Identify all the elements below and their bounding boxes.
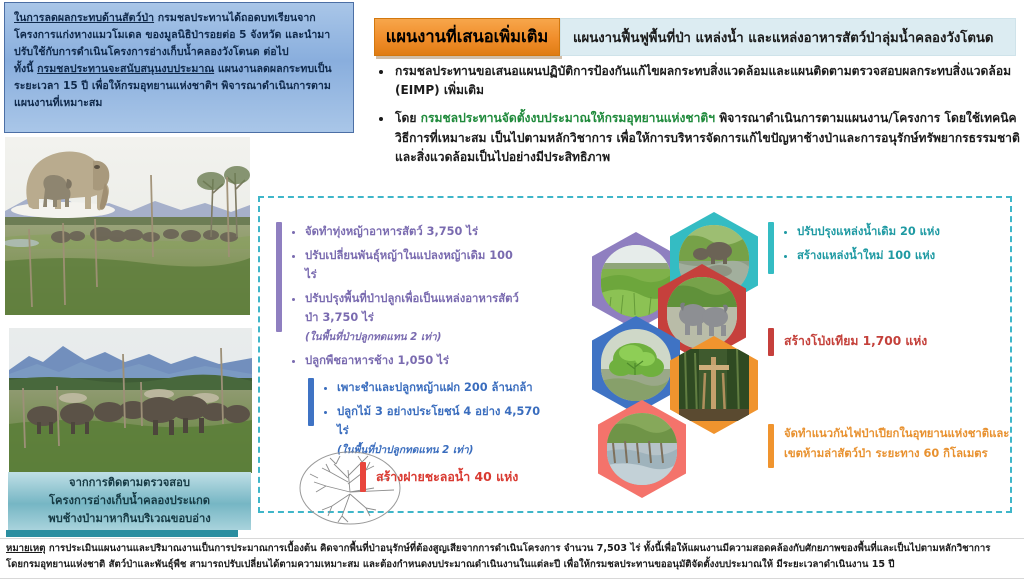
slide-canvas: ในการลดผลกระทบด้านสัตว์ป่า กรมชลประทานได…: [0, 0, 1024, 579]
grass-item-3: ปรับปรุงพื้นที่ป่าปลูกเพื่อเป็นแหล่งอาหา…: [305, 292, 519, 325]
planting-item-1: เพาะชำและปลูกหญ้าแฝก 200 ล้านกล้า: [337, 381, 533, 394]
photo-elephant-herd-mountains: [8, 327, 253, 474]
callout-grass-plan: จัดทำทุ่งหญ้าอาหารสัตว์ 3,750 ไร่ ปรับเป…: [276, 222, 526, 375]
list-item: ปลูกพืชอาหารช้าง 1,050 ไร่: [305, 351, 526, 371]
water-item-2: สร้างแหล่งน้ำใหม่ 100 แห่ง: [797, 249, 935, 262]
callout-saltlick-text: สร้างโป่งเทียม 1,700 แห่ง: [784, 332, 927, 352]
list-item: สร้างแหล่งน้ำใหม่ 100 แห่ง: [797, 246, 940, 266]
grass-item-4: ปลูกพืชอาหารช้าง 1,050 ไร่: [305, 354, 449, 367]
top-bullet-text-1: กรมชลประทานขอเสนอแผนปฏิบัติการป้องกันแก้…: [395, 64, 1011, 97]
photo-caption: จากการติดตามตรวจสอบ โครงการอ่างเก็บน้ำคล…: [8, 472, 251, 530]
note-underline-1: ในการลดผลกระทบด้านสัตว์ป่า: [14, 12, 154, 24]
callout-accent-bar-orange: [768, 424, 774, 468]
callout-accent-bar-red-weir: [360, 462, 366, 492]
top-bullet-list: กรมชลประทานขอเสนอแผนปฏิบัติการป้องกันแก้…: [374, 62, 1022, 176]
water-item-1: ปรับปรุงแหล่งน้ำเดิม 20 แห่ง: [797, 225, 940, 238]
footer-line-1: การประเมินแผนงานและปริมาณงานเป็นการประมา…: [46, 543, 991, 554]
callout-accent-bar-red: [768, 328, 774, 356]
grass-item-3-note: (ในพื้นที่ป่าปลูกทดแทน 2 เท่า): [305, 328, 526, 348]
footer-accent-strip: [6, 530, 238, 537]
footer-label: หมายเหตุ: [6, 543, 46, 554]
list-item: เพาะชำและปลูกหญ้าแฝก 200 ล้านกล้า: [337, 378, 553, 398]
note-text-2-pre: ทั้งนี้: [14, 63, 37, 75]
list-item: ปรับปรุงแหล่งน้ำเดิม 20 แห่ง: [797, 222, 940, 242]
callout-saltlick-plan: สร้างโป่งเทียม 1,700 แห่ง: [768, 328, 1018, 356]
grass-item-1: จัดทำทุ่งหญ้าอาหารสัตว์ 3,750 ไร่: [305, 225, 478, 238]
callout-accent-bar-purple: [276, 222, 282, 332]
callout-grass-text: จัดทำทุ่งหญ้าอาหารสัตว์ 3,750 ไร่ ปรับเป…: [292, 222, 526, 375]
list-item: ปรับเปลี่ยนพันธุ์หญ้าในแปลงหญ้าเดิม 100 …: [305, 246, 526, 285]
callout-firebreak-text: จัดทำแนวกันไฟป่าเปียกในอุทยานแห่งชาติและ…: [784, 424, 1009, 463]
impact-note-box: ในการลดผลกระทบด้านสัตว์ป่า กรมชลประทานได…: [4, 2, 354, 133]
note-underline-2: กรมชลประทานจะสนับสนุนงบประมาณ: [37, 63, 214, 75]
header-title-bar: แผนงานฟื้นฟูพื้นที่ป่า แหล่งน้ำ และแหล่ง…: [560, 18, 1016, 56]
callout-weir-plan: สร้างฝายชะลอน้ำ 40 แห่ง: [360, 462, 580, 492]
list-item: จัดทำทุ่งหญ้าอาหารสัตว์ 3,750 ไร่: [305, 222, 526, 242]
footer-line-2: โดยกรมอุทยานแห่งชาติ สัตว์ป่าและพันธุ์พื…: [6, 559, 895, 570]
top-bullet-item-1: กรมชลประทานขอเสนอแผนปฏิบัติการป้องกันแก้…: [393, 62, 1022, 100]
callout-water-sources-plan: ปรับปรุงแหล่งน้ำเดิม 20 แห่ง สร้างแหล่งน…: [768, 222, 1018, 274]
callout-firebreak-plan: จัดทำแนวกันไฟป่าเปียกในอุทยานแห่งชาติและ…: [768, 424, 1020, 468]
firebreak-line-2: เขตห้ามล่าสัตว์ป่า ระยะทาง 60 กิโลเมตร: [784, 447, 988, 460]
callout-accent-bar-blue: [308, 378, 314, 426]
weir-stream-hex: [598, 400, 686, 498]
header-tag-label: แผนงานที่เสนอเพิ่มเติม: [386, 24, 549, 50]
footer-note: หมายเหตุ การประเมินแผนงานและปริมาณงานเป็…: [0, 538, 1024, 579]
caption-line-3: พบช้างป่ามาหากินบริเวณขอบอ่าง: [8, 510, 251, 528]
page-title: แผนงานฟื้นฟูพื้นที่ป่า แหล่งน้ำ และแหล่ง…: [573, 27, 994, 48]
photo-elephant-herd: [4, 136, 251, 316]
caption-line-1: จากการติดตามตรวจสอบ: [8, 474, 251, 492]
hexagon-image-cluster: [578, 212, 768, 504]
top-bullet-item-2: โดย กรมชลประทานจัดตั้งงบประมาณให้กรมอุทย…: [393, 109, 1022, 167]
caption-line-2: โครงการอ่างเก็บน้ำคลองประแกด: [8, 492, 251, 510]
top-bullet-text-2b-highlight: กรมชลประทานจัดตั้งงบประมาณให้กรมอุทยานแห…: [421, 111, 715, 125]
planting-item-2: ปลูกไม้ 3 อย่างประโยชน์ 4 อย่าง 4,570 ไร…: [337, 405, 540, 438]
firebreak-line-1: จัดทำแนวกันไฟป่าเปียกในอุทยานแห่งชาติและ: [784, 427, 1009, 440]
grass-item-2: ปรับเปลี่ยนพันธุ์หญ้าในแปลงหญ้าเดิม 100 …: [305, 249, 513, 282]
header-tag: แผนงานที่เสนอเพิ่มเติม: [374, 18, 560, 56]
callout-accent-bar-teal: [768, 222, 774, 274]
top-bullet-text-2a: โดย: [395, 111, 421, 125]
callout-water-text: ปรับปรุงแหล่งน้ำเดิม 20 แห่ง สร้างแหล่งน…: [784, 222, 940, 269]
list-item: ปรับปรุงพื้นที่ป่าปลูกเพื่อเป็นแหล่งอาหา…: [305, 289, 526, 348]
callout-weir-text: สร้างฝายชะลอน้ำ 40 แห่ง: [376, 467, 518, 487]
